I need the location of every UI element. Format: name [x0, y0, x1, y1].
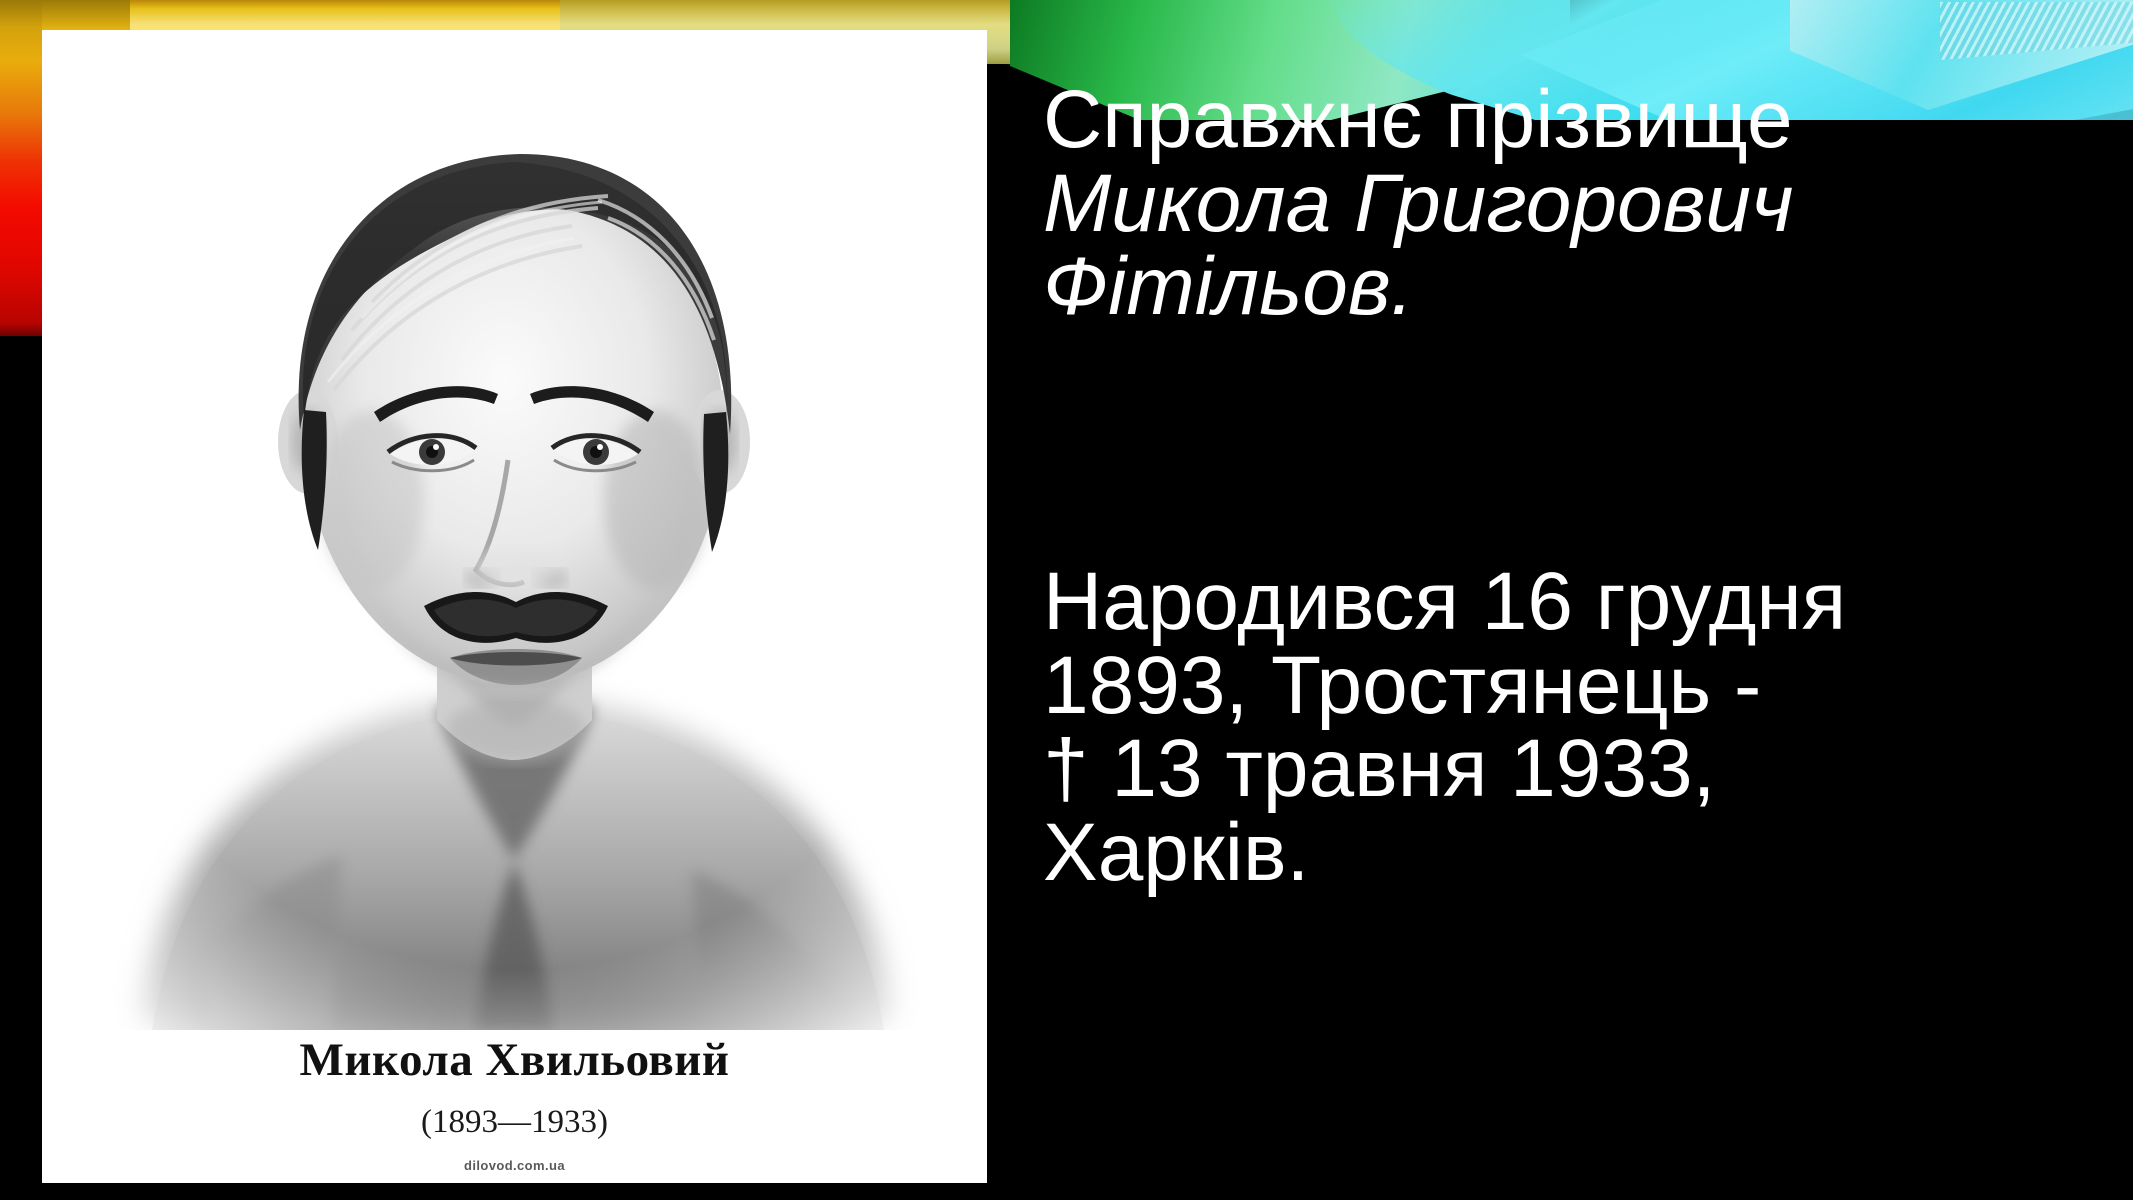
left-gradient-strip [0, 0, 42, 336]
image-watermark: dilovod.com.ua [42, 1158, 987, 1173]
birth-death-line-2: 1893, Тростянець - [1043, 644, 2078, 728]
birth-death-line-1: Народився 16 грудня [1043, 560, 2078, 644]
paragraph-birth-death: Народився 16 грудня 1893, Тростянець - †… [1043, 560, 2078, 895]
real-surname-name-line-2: Фітільов. [1043, 245, 2078, 329]
portrait-caption-years: (1893—1933) [42, 1104, 987, 1141]
birth-death-line-4: Харків. [1043, 811, 2078, 895]
paragraph-real-surname: Справжнє прізвище Микола Григорович Фіті… [1043, 78, 2078, 329]
presentation-slide: Микола Хвильовий (1893—1933) dilovod.com… [0, 0, 2133, 1200]
portrait-caption-name: Микола Хвильовий [42, 1033, 987, 1087]
birth-death-line-3: † 13 травня 1933, [1043, 727, 2078, 811]
real-surname-lead: Справжнє прізвище [1043, 78, 2078, 162]
portrait-panel: Микола Хвильовий (1893—1933) dilovod.com… [42, 30, 987, 1183]
portrait-drawing [42, 30, 987, 1030]
portrait-image [42, 30, 987, 1030]
text-column: Справжнє прізвище Микола Григорович Фіті… [1043, 0, 2103, 1200]
real-surname-name-line-1: Микола Григорович [1043, 162, 2078, 246]
